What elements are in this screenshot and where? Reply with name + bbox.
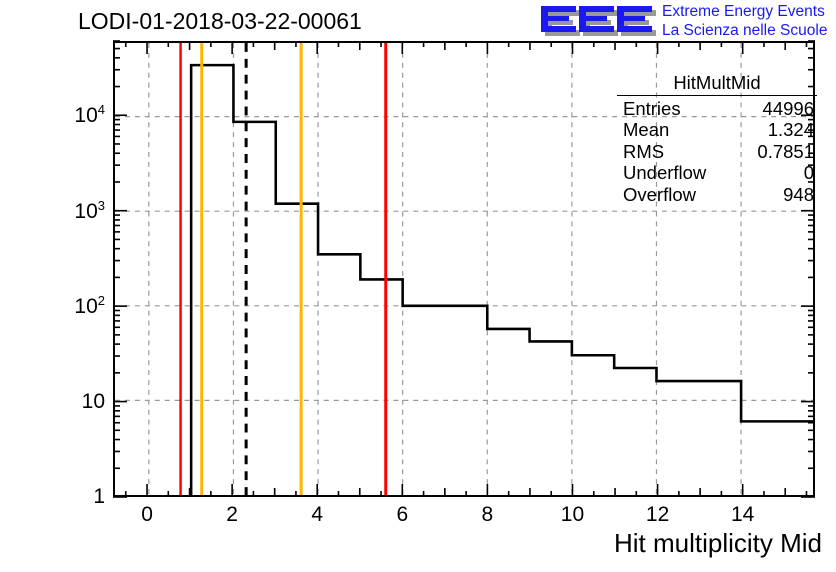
stats-row: Underflow0 — [617, 162, 817, 184]
stats-key: RMS — [623, 141, 664, 163]
x-axis-title: Hit multiplicity Mid — [614, 528, 822, 559]
y-tick-label: 102 — [74, 293, 105, 319]
stats-row: Entries44996 — [617, 98, 817, 120]
x-tick-label: 8 — [482, 503, 494, 527]
x-tick-label: 6 — [396, 503, 408, 527]
stats-key: Overflow — [623, 184, 696, 206]
eee-logo: Extreme Energy Events La Scienza nelle S… — [538, 2, 834, 42]
eee-logo-text: Extreme Energy Events La Scienza nelle S… — [662, 2, 827, 40]
stats-value: 0.7851 — [757, 141, 814, 163]
stats-value: 0 — [804, 162, 814, 184]
x-tick-label: 10 — [561, 503, 584, 527]
stats-value: 44996 — [763, 98, 814, 120]
stats-row: Overflow948 — [617, 184, 817, 206]
stats-value: 1.324 — [768, 119, 814, 141]
stats-value: 948 — [783, 184, 814, 206]
y-tick-label: 104 — [74, 102, 105, 128]
x-tick-label: 14 — [731, 503, 754, 527]
stats-title: HitMultMid — [617, 72, 817, 96]
eee-logo-glyph — [538, 3, 658, 39]
y-tick-label: 103 — [74, 198, 105, 224]
stats-key: Mean — [623, 119, 669, 141]
y-tick-label: 10 — [82, 390, 105, 414]
eee-logo-line2: La Scienza nelle Scuole — [662, 21, 827, 40]
eee-logo-line1: Extreme Energy Events — [662, 2, 827, 21]
stats-row: Mean1.324 — [617, 119, 817, 141]
stats-box: HitMultMid Entries44996Mean1.324RMS0.785… — [617, 72, 817, 205]
stats-key: Underflow — [623, 162, 706, 184]
y-tick-label: 1 — [93, 485, 105, 509]
x-tick-label: 4 — [311, 503, 323, 527]
stats-rows: Entries44996Mean1.324RMS0.7851Underflow0… — [617, 98, 817, 206]
x-tick-label: 0 — [141, 503, 153, 527]
page-title: LODI-01-2018-03-22-00061 — [78, 8, 362, 35]
stats-row: RMS0.7851 — [617, 141, 817, 163]
x-tick-label: 2 — [226, 503, 238, 527]
stats-key: Entries — [623, 98, 681, 120]
x-tick-label: 12 — [646, 503, 669, 527]
